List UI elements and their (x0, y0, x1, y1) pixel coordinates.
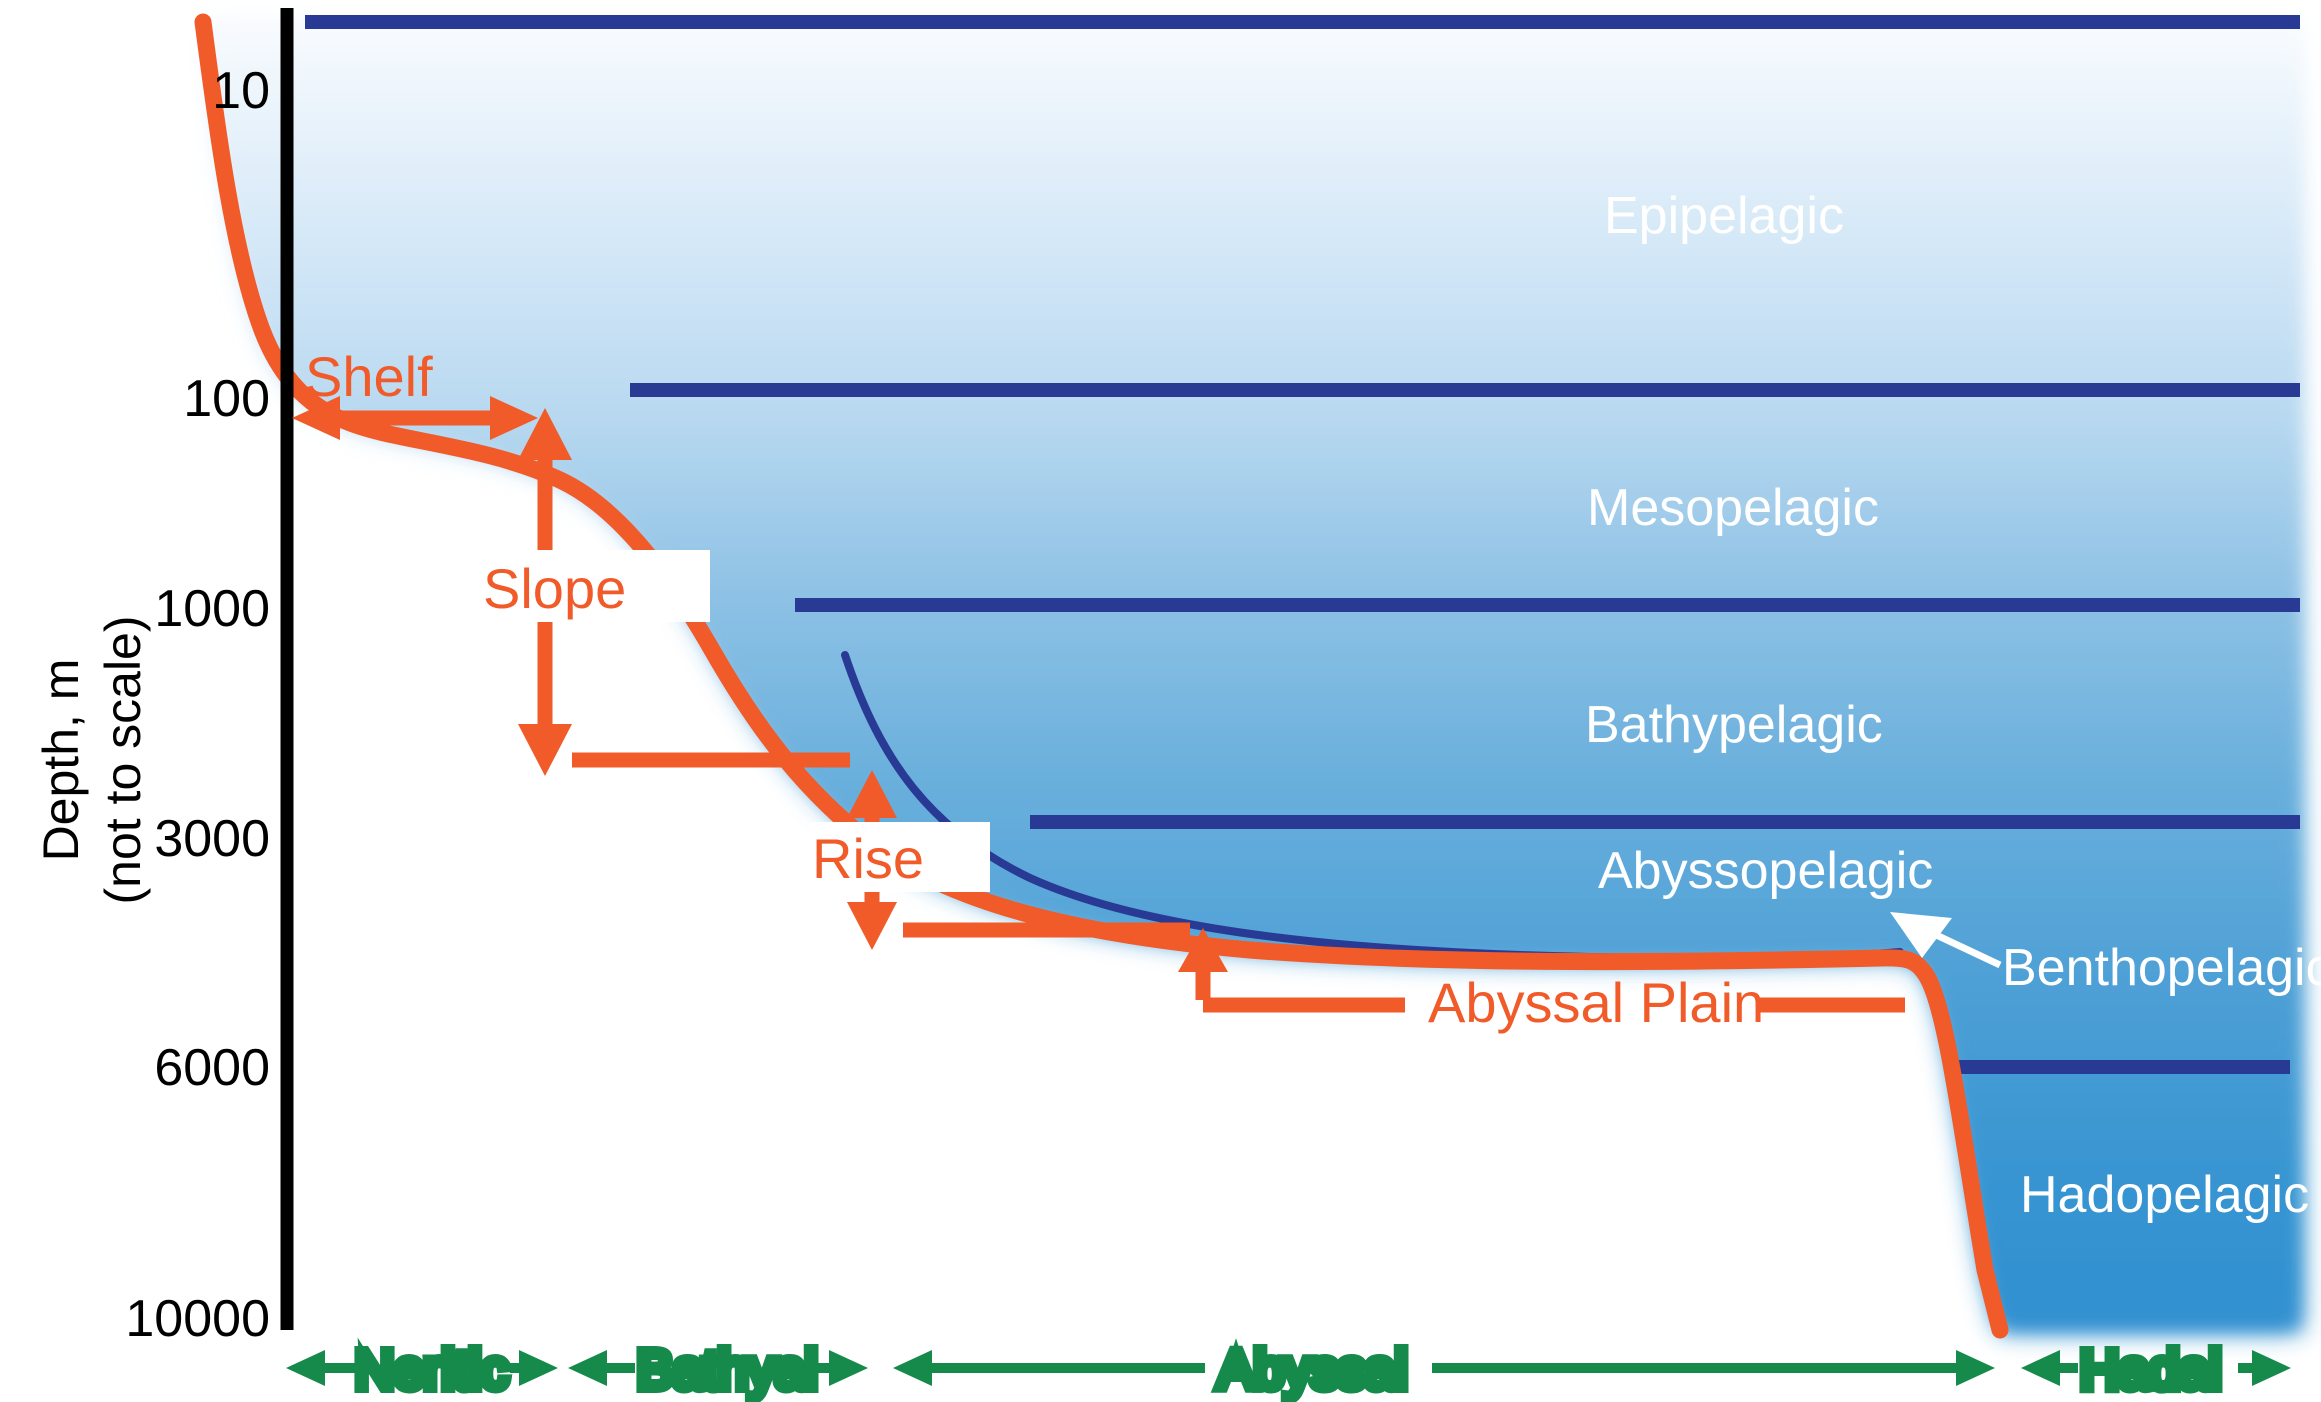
benthic-hadal: Hadal (2021, 1340, 2291, 1400)
zone-label-abyssopelagic: Abyssopelagic (1598, 842, 1933, 900)
slope-label: Slope (483, 557, 626, 620)
y-tick-3000: 3000 (154, 810, 270, 868)
bathyal-arrowhead-left (568, 1350, 607, 1386)
shelf-label: Shelf (305, 345, 433, 408)
abyssal-label: Abyssal (1218, 1340, 1407, 1400)
hadal-arrowhead-left (2021, 1350, 2060, 1386)
benthopelagic-label: Benthopelagic (2002, 939, 2321, 997)
bathyal-arrowhead-right (829, 1350, 868, 1386)
neritic-label: Neritic (355, 1340, 508, 1400)
y-axis-title-line1: Depth, m (33, 659, 89, 862)
benthic-bathyal: Bathyal (568, 1340, 868, 1400)
rise-label: Rise (812, 827, 924, 890)
benthic-neritic: Neritic (286, 1340, 558, 1400)
y-tick-10000: 10000 (125, 1290, 270, 1348)
abyssal-arrowhead-right (1956, 1350, 1995, 1386)
neritic-arrowhead-right (519, 1350, 558, 1386)
y-axis-title-line2: (not to scale) (95, 615, 151, 904)
zone-label-epipelagic: Epipelagic (1604, 187, 1844, 245)
y-tick-1000: 1000 (154, 580, 270, 638)
neritic-arrowhead-left (286, 1350, 325, 1386)
hadal-arrowhead-right (2252, 1350, 2291, 1386)
y-tick-6000: 6000 (154, 1039, 270, 1097)
y-axis-title: Depth, m (not to scale) (33, 615, 151, 904)
benthic-abyssal: Abyssal (893, 1340, 1995, 1400)
abyssal-arrowhead-left (893, 1350, 932, 1386)
hadal-label: Hadal (2080, 1340, 2221, 1400)
zone-label-bathypelagic: Bathypelagic (1585, 696, 1883, 754)
abyssal-plain-label: Abyssal Plain (1428, 971, 1764, 1034)
y-tick-10: 10 (212, 62, 270, 120)
ocean-zones-diagram: 10 100 1000 3000 6000 10000 Depth, m (no… (0, 0, 2321, 1402)
y-tick-100: 100 (183, 370, 270, 428)
slope-arrowhead-bottom (518, 724, 572, 776)
zone-label-hadopelagic: Hadopelagic (2020, 1166, 2309, 1224)
bathyal-label: Bathyal (637, 1340, 817, 1400)
diagram-canvas: 10 100 1000 3000 6000 10000 Depth, m (no… (0, 0, 2321, 1402)
zone-label-mesopelagic: Mesopelagic (1587, 479, 1879, 537)
benthic-zone-axis: Neritic Bathyal Abyssal (286, 1340, 2291, 1400)
rise-arrowhead-bottom (847, 902, 897, 950)
